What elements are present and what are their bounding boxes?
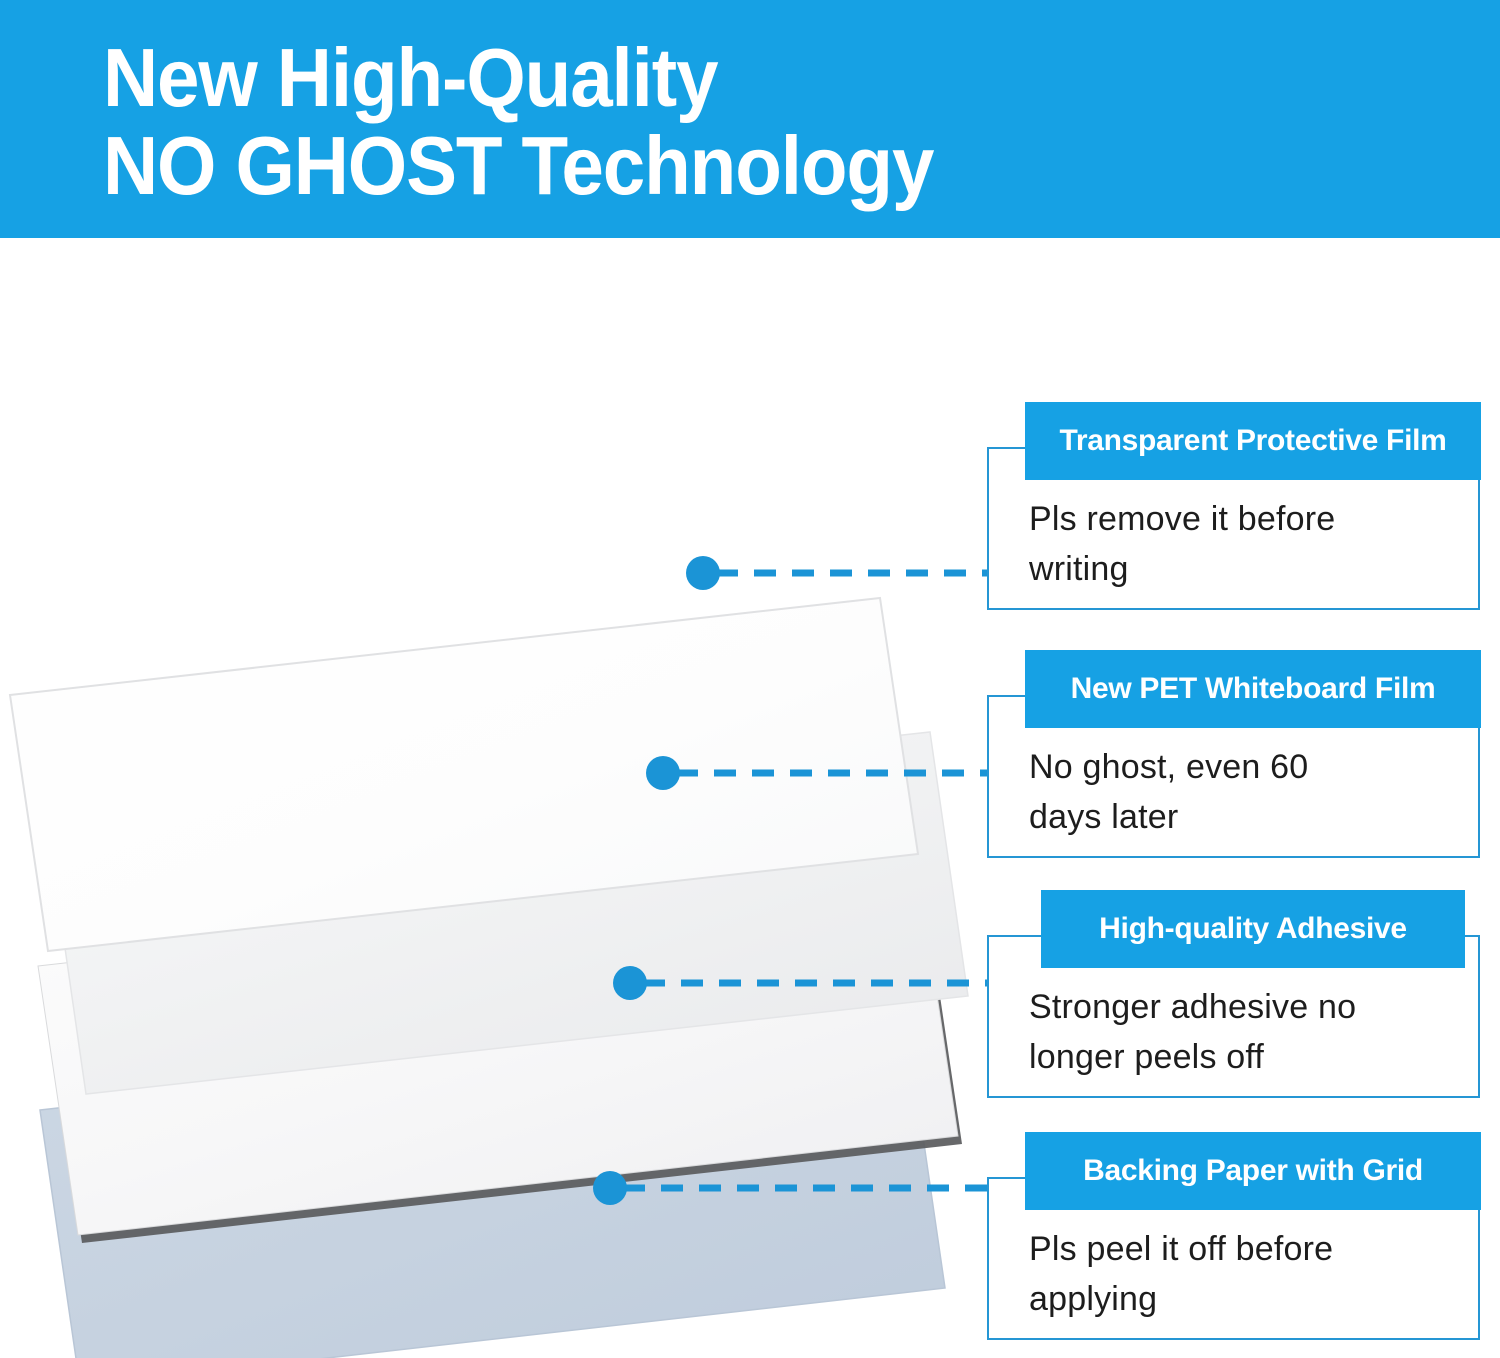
infographic-page: New High-Quality NO GHOST Technology bbox=[0, 0, 1500, 1358]
callout-description: No ghost, even 60 days later bbox=[1029, 742, 1459, 842]
page-title: New High-Quality NO GHOST Technology bbox=[103, 34, 1253, 210]
header-banner: New High-Quality NO GHOST Technology bbox=[0, 0, 1500, 238]
callout-description: Pls peel it off before applying bbox=[1029, 1224, 1459, 1324]
callout-title: Backing Paper with Grid bbox=[1025, 1132, 1481, 1210]
callout-title: Transparent Protective Film bbox=[1025, 402, 1481, 480]
callout-title: New PET Whiteboard Film bbox=[1025, 650, 1481, 728]
callout-title: High-quality Adhesive bbox=[1041, 890, 1465, 968]
callout-description: Stronger adhesive no longer peels off bbox=[1029, 982, 1459, 1082]
layered-sheets-illustration bbox=[0, 238, 1000, 1358]
callout-description: Pls remove it before writing bbox=[1029, 494, 1459, 594]
